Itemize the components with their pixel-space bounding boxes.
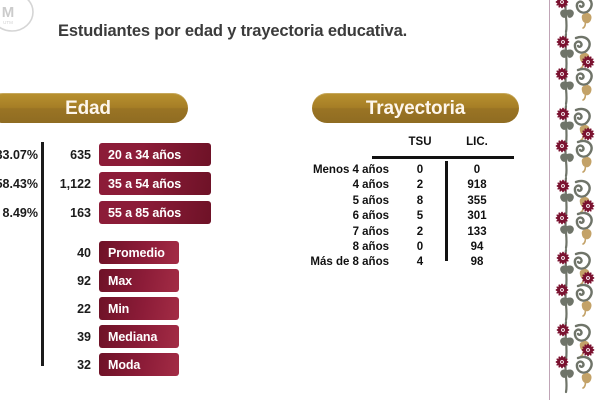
stat-label-pill: Mediana (99, 325, 179, 348)
age-percent: 58.43% (0, 171, 38, 197)
floral-embroidery-border (542, 0, 600, 400)
age-range-pill: 35 a 54 años (99, 172, 211, 195)
trayectoria-table: TSU LIC. Menos 4 años 0 0 4 años 2 918 5… (284, 136, 514, 271)
stat-value: 32 (46, 352, 91, 378)
row-value-lic: 94 (457, 240, 497, 255)
table-row: 4 años 2 918 (284, 178, 514, 193)
row-value-tsu: 5 (400, 209, 440, 224)
table-row: 6 años 5 301 (284, 209, 514, 224)
row-value-tsu: 8 (400, 194, 440, 209)
table-row: 92 Max (0, 268, 230, 294)
age-range-pill: 55 a 85 años (99, 201, 211, 224)
age-count: 163 (46, 200, 91, 226)
row-value-lic: 355 (457, 194, 497, 209)
section-banner-trayectoria-label: Trayectoria (366, 99, 465, 118)
table-row: 8.49% 163 55 a 85 años (0, 200, 230, 226)
row-label: 8 años (284, 240, 389, 255)
section-banner-edad: Edad (0, 93, 188, 123)
section-banner-trayectoria: Trayectoria (312, 93, 519, 123)
table-row: Más de 8 años 4 98 (284, 255, 514, 270)
table-row: 8 años 0 94 (284, 240, 514, 255)
stat-label-pill: Promedio (99, 241, 179, 264)
table-row: 22 Min (0, 296, 230, 322)
row-label: 7 años (284, 225, 389, 240)
table-row: 32 Moda (0, 352, 230, 378)
edad-data-block: 33.07% 635 20 a 34 años 58.43% 1,122 35 … (0, 138, 230, 368)
row-value-tsu: 4 (400, 255, 440, 270)
table-row: 39 Mediana (0, 324, 230, 350)
row-label: Más de 8 años (284, 255, 389, 270)
row-value-tsu: 0 (400, 240, 440, 255)
stat-value: 40 (46, 240, 91, 266)
table-row: 7 años 2 133 (284, 225, 514, 240)
row-value-lic: 918 (457, 178, 497, 193)
column-header-lic: LIC. (457, 136, 497, 148)
row-value-tsu: 2 (400, 178, 440, 193)
age-range-pill: 20 a 34 años (99, 143, 211, 166)
age-count: 635 (46, 142, 91, 168)
row-label: Menos 4 años (284, 163, 389, 178)
row-label: 5 años (284, 194, 389, 209)
stat-label-pill: Min (99, 297, 179, 320)
stat-label-pill: Moda (99, 353, 179, 376)
table-row: 40 Promedio (0, 240, 230, 266)
table-row: 58.43% 1,122 35 a 54 años (0, 171, 230, 197)
svg-text:UTM: UTM (3, 20, 13, 25)
row-label: 4 años (284, 178, 389, 193)
stat-value: 39 (46, 324, 91, 350)
utm-institutional-logo: M UTM (0, 0, 42, 38)
row-label: 6 años (284, 209, 389, 224)
table-row: 5 años 8 355 (284, 194, 514, 209)
row-value-tsu: 0 (400, 163, 440, 178)
column-header-tsu: TSU (400, 136, 440, 148)
age-percent: 33.07% (0, 142, 38, 168)
stat-value: 22 (46, 296, 91, 322)
page-title: Estudiantes por edad y trayectoria educa… (58, 22, 407, 41)
stat-value: 92 (46, 268, 91, 294)
slide-canvas: M UTM Estudiantes por edad y trayectoria… (0, 0, 600, 400)
stat-label-pill: Max (99, 269, 179, 292)
row-value-tsu: 2 (400, 225, 440, 240)
table-row: 33.07% 635 20 a 34 años (0, 142, 230, 168)
floral-embroidery-pattern-icon (554, 0, 600, 400)
age-count: 1,122 (46, 171, 91, 197)
section-banner-edad-label: Edad (65, 99, 111, 118)
age-percent: 8.49% (0, 200, 38, 226)
border-accent-line (549, 0, 550, 400)
row-value-lic: 133 (457, 225, 497, 240)
row-value-lic: 301 (457, 209, 497, 224)
svg-text:M: M (2, 4, 15, 21)
table-header-row: TSU LIC. (284, 136, 514, 156)
row-value-lic: 0 (457, 163, 497, 178)
row-value-lic: 98 (457, 255, 497, 270)
table-row: Menos 4 años 0 0 (284, 163, 514, 178)
